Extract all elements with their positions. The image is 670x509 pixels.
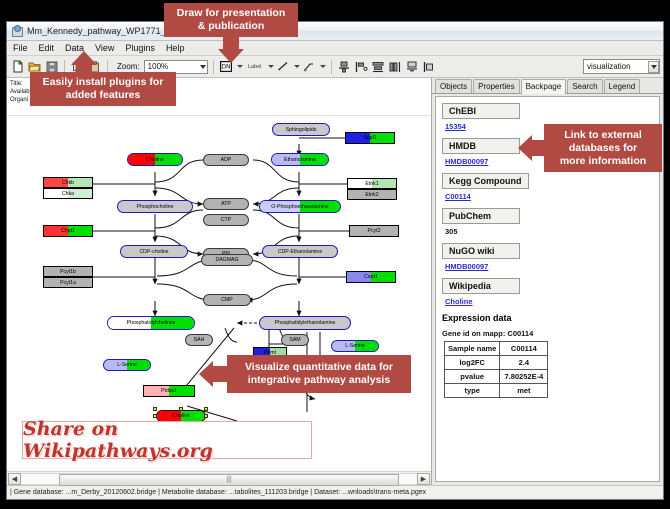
node-label: Ethanolamine [284,157,316,163]
side-panel-tabs: Objects Properties Backpage Search Legen… [432,78,663,94]
new-file-icon[interactable] [10,59,25,74]
node-sam[interactable]: SAM [281,334,309,346]
app-icon [11,25,23,37]
node-label: CDP-Ethanolamine [278,249,322,255]
expr-val-pvalue: 7.80252E-4 [500,370,548,384]
interaction-dropdown-icon[interactable] [320,65,326,68]
callout-draw-arrow [218,49,244,63]
node-label: SAM [289,337,300,343]
db-section-pubchem: PubChem 305 [442,208,659,236]
label-tool-text: Label [248,64,261,70]
db-header-pubchem: PubChem [442,208,520,224]
gene-chkb[interactable]: Chkb [43,177,93,188]
node-label: CTP [221,217,231,223]
db-section-kegg: Kegg Compound C00114 [442,173,659,201]
expr-key-pvalue: pvalue [445,370,500,384]
table-row: Sample name C00114 [445,342,548,356]
node-label: Sphingolipids [286,127,317,133]
node-label: Phosphatidylcholines [127,320,176,326]
tab-properties[interactable]: Properties [473,79,519,93]
node-atp[interactable]: ATP [203,198,249,210]
node-label: Pcyt1a [60,280,76,286]
node-label: L-Serine [345,343,365,349]
interaction-tool-icon[interactable] [302,59,317,74]
gene-id-line: Gene id on mapp: C00114 [442,329,659,338]
node-adp[interactable]: ADP [203,154,249,166]
node-choline-top[interactable]: Choline [127,153,183,166]
node-dagmag[interactable]: DAGMAG [201,254,253,266]
db-link-kegg[interactable]: C00114 [445,192,659,201]
db-header-chebi: ChEBI [442,103,520,119]
group-icon[interactable] [405,59,420,74]
menu-edit[interactable]: Edit [38,43,56,53]
db-header-hmdb: HMDB [442,138,520,154]
scroll-right-icon[interactable]: ▶ [417,473,430,485]
tab-backpage[interactable]: Backpage [521,79,567,94]
callout-visualize-arrow [199,361,213,387]
node-phosphocholine[interactable]: Phosphocholine [117,200,193,213]
zoom-value: 100% [148,62,168,71]
node-cmp[interactable]: CMP [203,294,251,306]
gene-sgpl1[interactable]: Sgpl1 [345,132,395,144]
node-label: Chka [62,191,74,197]
chevron-down-icon[interactable] [200,65,206,69]
scroll-track[interactable]: ||| [21,473,417,485]
callout-plugins: Easily install plugins for added feature… [30,72,176,106]
node-label: CMP [221,297,233,303]
callout-visualize-stem [213,366,228,382]
db-link-wikipedia[interactable]: Choline [445,297,659,306]
node-phosphatidylethanolamine[interactable]: Phosphatidylethanolamine [259,316,351,330]
expr-key-type: type [445,384,500,398]
callout-share-text: Share on Wikipathways.org [23,418,311,462]
callout-links-line3: more information [560,155,646,168]
tab-legend[interactable]: Legend [604,79,641,93]
distribute-icon[interactable] [371,59,386,74]
node-label: ADP [221,157,232,163]
table-row: pvalue 7.80252E-4 [445,370,548,384]
tab-objects[interactable]: Objects [435,79,472,93]
title-bar: Mm_Kennedy_pathway_WP1771_45176.gpml [7,22,663,41]
node-label: Ptdss1 [161,388,177,394]
db-value-pubchem: 305 [445,227,659,236]
line-tool-icon[interactable] [276,59,291,74]
node-cdp-choline[interactable]: CDP-choline [120,245,188,258]
callout-visualize-line1: Visualize quantitative data for [245,361,393,374]
toolbar-separator-3 [213,60,214,74]
visualization-value: visualization [587,62,631,71]
callout-visualize-line2: integrative pathway analysis [248,374,390,387]
gene-etnk1[interactable]: Etnk1 [347,178,397,189]
node-sah[interactable]: SAH [185,334,213,346]
label-dropdown-icon[interactable] [268,65,274,68]
db-link-nugo[interactable]: HMDB00097 [445,262,659,271]
menu-help[interactable]: Help [165,43,186,53]
node-phosphatidylcholines[interactable]: Phosphatidylcholines [107,316,195,330]
callout-links-line2: databases for [569,142,637,155]
expr-val-log2fc: 2.4 [500,356,548,370]
callout-plugins-arrow [71,51,97,65]
node-label: Cept1 [364,274,378,280]
node-label: Etnk2 [365,192,378,198]
db-section-wikipedia: Wikipedia Choline [442,278,659,306]
callout-draw: Draw for presentation & publication [164,3,298,37]
db-header-nugo: NuGO wiki [442,243,520,259]
gene-cept1[interactable]: Cept1 [346,271,396,283]
gene-ptdss1[interactable]: Ptdss1 [143,385,195,397]
db-header-wikipedia: Wikipedia [442,278,520,294]
node-label: Choline [146,157,164,163]
callout-plugins-line2: added features [66,89,141,102]
node-label: Chkb [62,180,74,186]
menu-plugins[interactable]: Plugins [124,43,156,53]
callout-links-arrow [518,135,532,161]
callout-links: Link to external databases for more info… [544,124,662,172]
gene-etnk2[interactable]: Etnk2 [347,189,397,200]
node-label: DAGMAG [215,257,238,263]
table-row: log2FC 2.4 [445,356,548,370]
db-header-kegg: Kegg Compound [442,173,529,189]
node-label: Pcyt2 [368,228,381,234]
resize-handle-n[interactable] [179,407,183,411]
gene-pcyt1a[interactable]: Pcyt1a [43,277,93,288]
expr-key-sample-name: Sample name [445,342,500,356]
node-label: Sgpl1 [363,135,376,141]
expression-table: Sample name C00114 log2FC 2.4 pvalue 7.8… [444,341,548,398]
scroll-left-icon[interactable]: ◀ [8,473,21,485]
menu-file[interactable]: File [12,43,29,53]
zoom-label: Zoom: [117,62,140,71]
label-tool[interactable]: Label [245,59,265,74]
visualization-dropdown-icon[interactable] [648,61,659,73]
node-label: L-Serine [117,362,137,368]
node-label: Chpt1 [61,228,75,234]
node-sphingolipids[interactable]: Sphingolipids [272,123,330,136]
node-l-serine-right[interactable]: L-Serine [331,340,379,352]
db-section-nugo: NuGO wiki HMDB00097 [442,243,659,271]
callout-plugins-line1: Easily install plugins for [43,76,164,89]
resize-handle-ne[interactable] [204,407,208,411]
tab-search[interactable]: Search [567,79,602,93]
gene-chka[interactable]: Chka [43,188,93,199]
align-left-icon[interactable] [354,59,369,74]
node-label: SAH [194,337,205,343]
node-ethanolamine-top[interactable]: Ethanolamine [271,153,329,166]
expr-key-log2fc: log2FC [445,356,500,370]
callout-visualize: Visualize quantitative data for integrat… [227,355,411,393]
toolbar-separator-4 [331,60,332,74]
resize-handle-nw[interactable] [153,407,157,411]
node-label: O-Phosphoethanolamine [271,204,328,210]
gene-pcyt2[interactable]: Pcyt2 [349,225,399,237]
node-ctp-real[interactable]: CTP [203,214,249,226]
menu-view[interactable]: View [94,43,115,53]
callout-draw-line1: Draw for presentation [177,7,286,20]
gene-pcyt1b[interactable]: Pcyt1b [43,266,93,277]
callout-share: Share on Wikipathways.org [22,421,312,459]
datanode-dropdown-icon[interactable] [237,65,243,68]
node-label: Phosphocholine [137,204,174,210]
expression-data-heading: Expression data [442,313,659,323]
screenshot-root: Mm_Kennedy_pathway_WP1771_45176.gpml Fil… [0,0,670,509]
menu-bar: File Edit Data View Plugins Help [7,41,663,56]
expr-val-sample-name: C00114 [500,342,548,356]
callout-links-line1: Link to external [564,129,642,142]
node-label: Phosphatidylethanolamine [275,320,336,326]
expr-val-type: met [500,384,548,398]
node-label: Etnk1 [365,181,378,187]
gene-chpt1[interactable]: Chpt1 [43,225,93,237]
visualization-combo[interactable]: visualization [583,59,660,74]
node-label: Pcyt1b [60,269,76,275]
node-label: CDP-choline [139,249,168,255]
node-cdp-ethanolamine[interactable]: CDP-Ethanolamine [262,245,338,258]
node-label: ATP [221,201,231,207]
align-top-icon[interactable] [337,59,352,74]
scroll-thumb[interactable]: ||| [59,474,399,486]
callout-draw-line2: & publication [198,20,265,33]
horizontal-scrollbar[interactable]: ◀ ||| ▶ [7,471,431,485]
order-icon[interactable] [422,59,437,74]
table-row: type met [445,384,548,398]
node-l-serine-left[interactable]: L-Serine [103,359,151,371]
status-bar: | Gene database: ...m_Derby_20120602.bri… [7,485,663,499]
svg-text:DN: DN [222,64,231,71]
status-text: | Gene database: ...m_Derby_20120602.bri… [10,489,426,496]
line-dropdown-icon[interactable] [294,65,300,68]
same-size-icon[interactable] [388,59,403,74]
node-o-phosphoethanolamine[interactable]: O-Phosphoethanolamine [259,200,341,213]
